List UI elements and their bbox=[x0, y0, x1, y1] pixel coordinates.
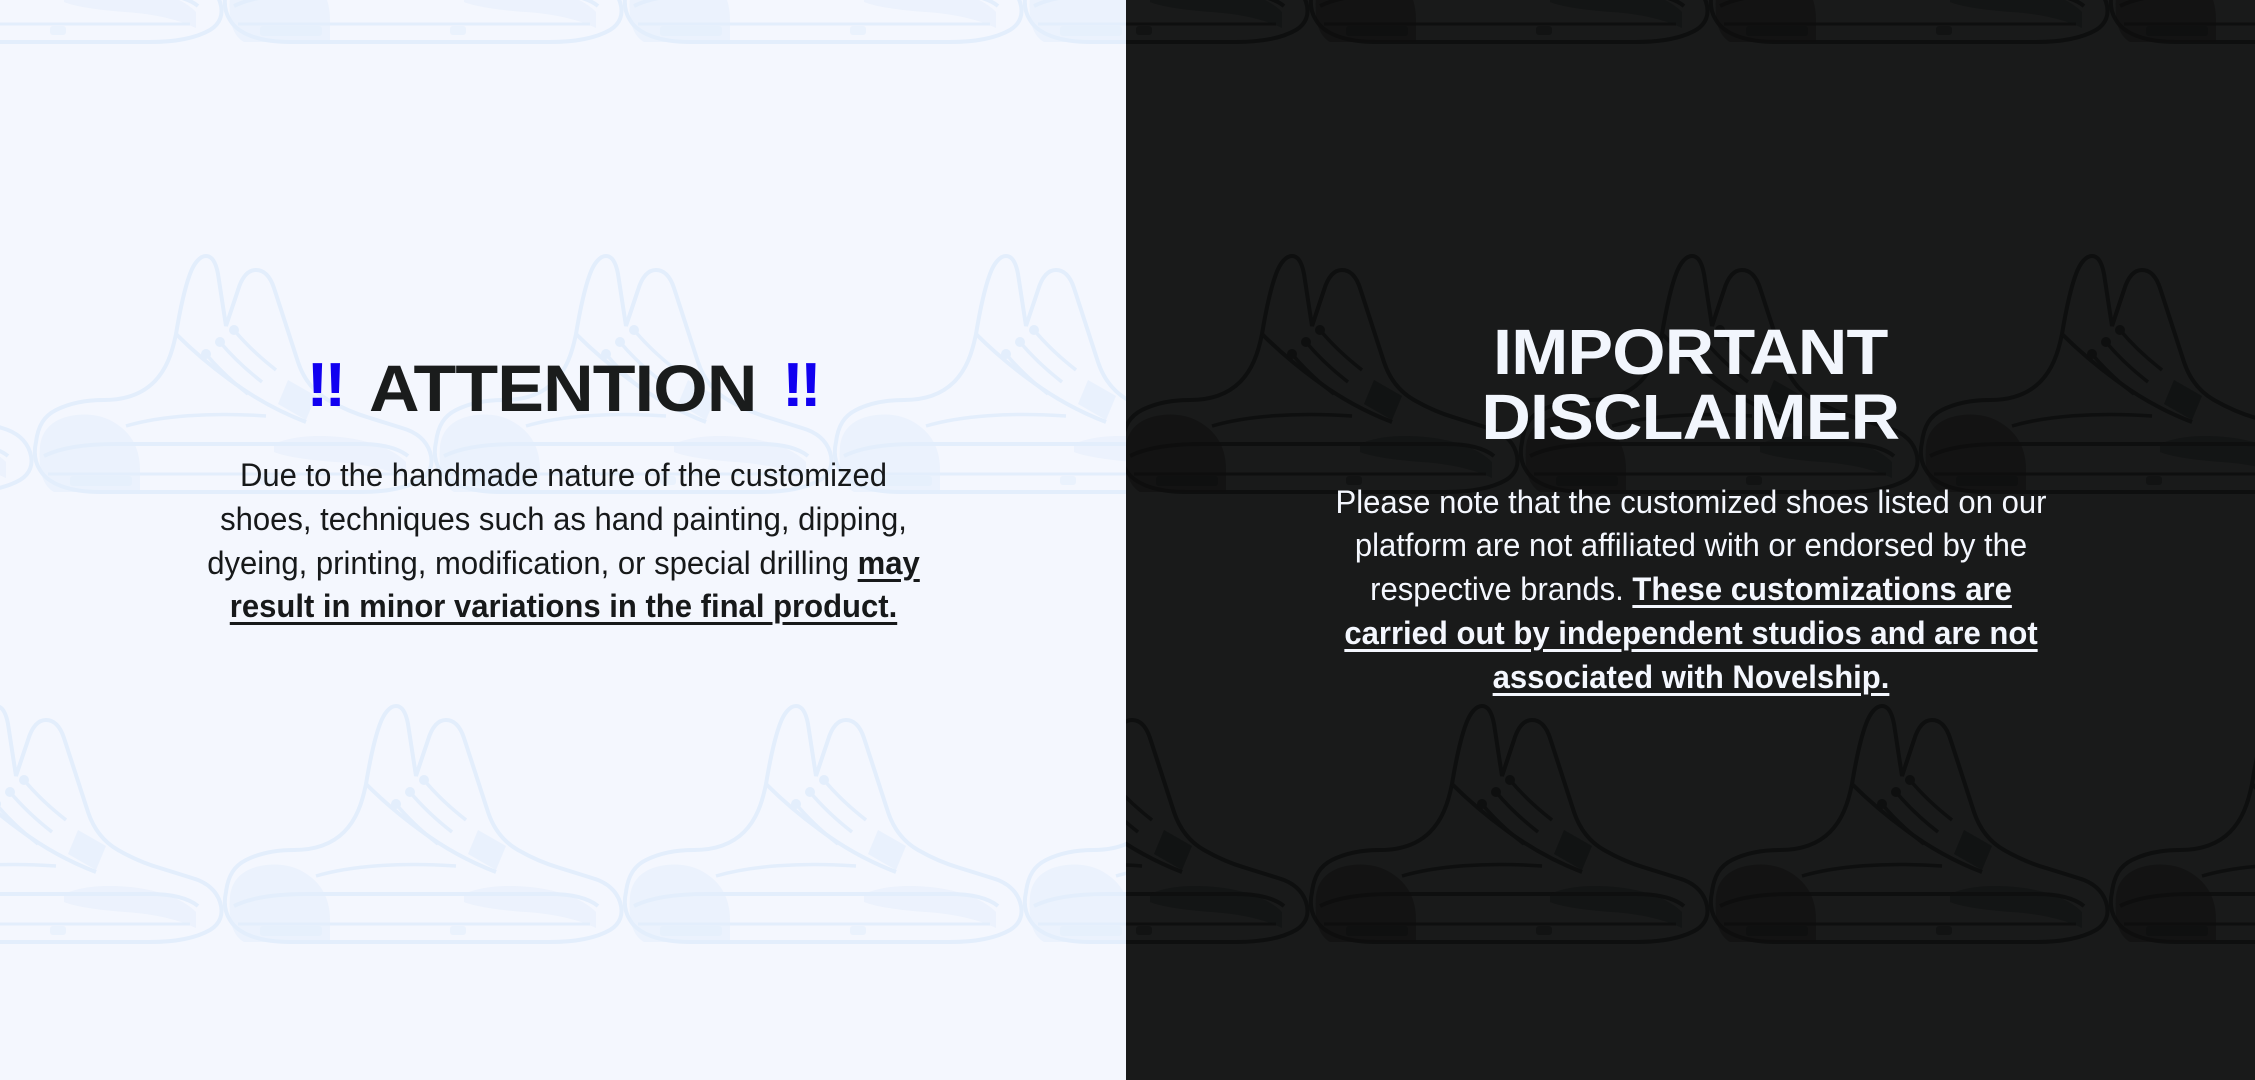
attention-heading-text: ATTENTION bbox=[369, 355, 757, 421]
disclaimer-heading: IMPORTANT DISCLAIMER bbox=[1482, 320, 1900, 451]
disclaimer-content: IMPORTANT DISCLAIMER Please note that th… bbox=[1126, 0, 2255, 1080]
attention-heading: ‼ ATTENTION ‼ bbox=[307, 355, 820, 421]
disclaimer-banner: ‼ ATTENTION ‼ Due to the handmade nature… bbox=[0, 0, 2255, 1080]
attention-content: ‼ ATTENTION ‼ Due to the handmade nature… bbox=[0, 0, 1126, 1080]
disclaimer-body: Please note that the customized shoes li… bbox=[1322, 481, 2059, 700]
attention-body-normal: Due to the handmade nature of the custom… bbox=[207, 457, 907, 581]
attention-panel: ‼ ATTENTION ‼ Due to the handmade nature… bbox=[0, 0, 1126, 1080]
disclaimer-heading-line2: DISCLAIMER bbox=[1482, 385, 1900, 450]
disclaimer-panel: IMPORTANT DISCLAIMER Please note that th… bbox=[1126, 0, 2255, 1080]
attention-body: Due to the handmade nature of the custom… bbox=[207, 454, 920, 629]
disclaimer-heading-line1: IMPORTANT bbox=[1493, 316, 1888, 388]
double-exclamation-right-icon: ‼ bbox=[782, 355, 819, 417]
double-exclamation-left-icon: ‼ bbox=[307, 355, 344, 417]
